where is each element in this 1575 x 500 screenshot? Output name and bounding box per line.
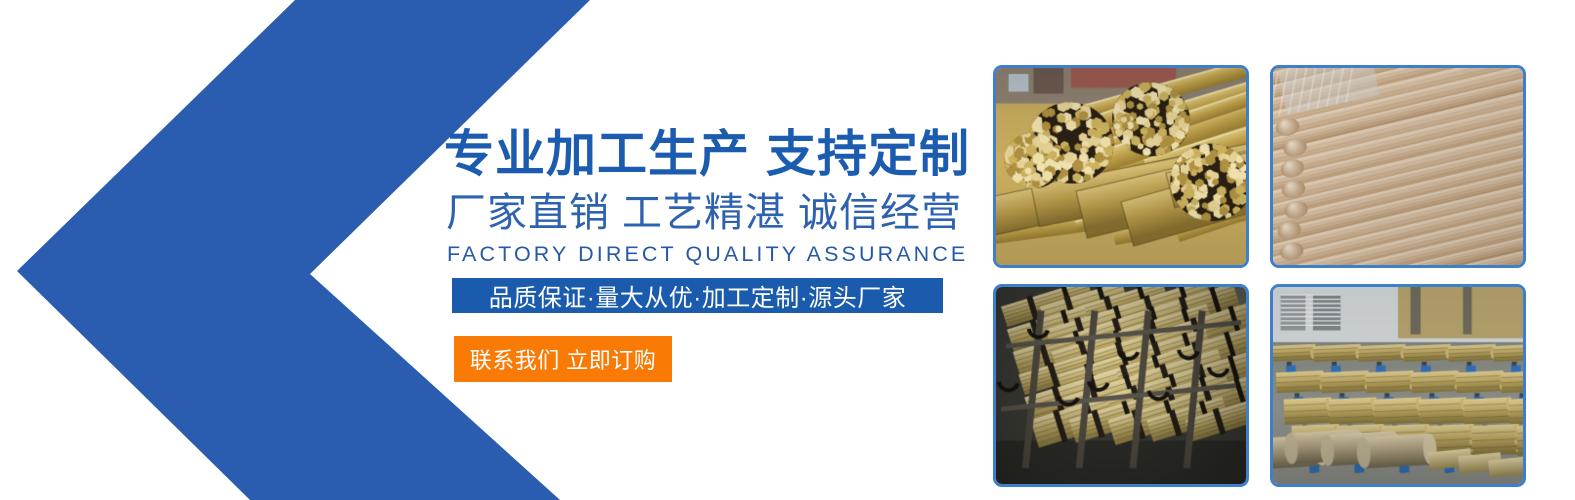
feature-badge-bar: 品质保证·量大从优·加工定制·源头厂家 — [452, 278, 943, 313]
contact-order-button-label: 联系我们 立即订购 — [470, 343, 657, 375]
strapped-brass-rods-on-rack-image — [996, 287, 1246, 484]
subtitle: 厂家直销工艺精湛诚信经营 — [446, 190, 964, 237]
product-photo-top-right[interactable] — [1270, 65, 1526, 268]
promo-banner: 专业加工生产支持定制 厂家直销工艺精湛诚信经营 FACTORY DIRECT Q… — [0, 0, 1575, 500]
headline-primary: 专业加工生产 — [444, 126, 750, 182]
subtitle-item-1: 厂家直销 — [446, 191, 610, 235]
product-photo-bottom-right[interactable] — [1270, 284, 1526, 487]
factory-warehouse-brass-stock-image — [1273, 287, 1523, 484]
headline-secondary: 支持定制 — [766, 126, 970, 182]
product-photo-grid — [993, 65, 1526, 487]
contact-order-button[interactable]: 联系我们 立即订购 — [454, 336, 672, 382]
page-title: 专业加工生产支持定制 — [444, 128, 964, 181]
subtitle-item-3: 诚信经营 — [798, 191, 962, 235]
headline-block: 专业加工生产支持定制 厂家直销工艺精湛诚信经营 FACTORY DIRECT Q… — [444, 128, 964, 382]
product-photo-bottom-left[interactable] — [993, 284, 1249, 487]
product-photo-top-left[interactable] — [993, 65, 1249, 268]
english-tagline: FACTORY DIRECT QUALITY ASSURANCE — [447, 242, 964, 267]
feature-badge-text: 品质保证·量大从优·加工定制·源头厂家 — [489, 278, 906, 313]
pale-wooden-dowel-rods-image — [1273, 68, 1523, 265]
subtitle-item-2: 工艺精湛 — [622, 191, 786, 235]
brass-bars-and-rod-bundles-image — [996, 68, 1246, 265]
